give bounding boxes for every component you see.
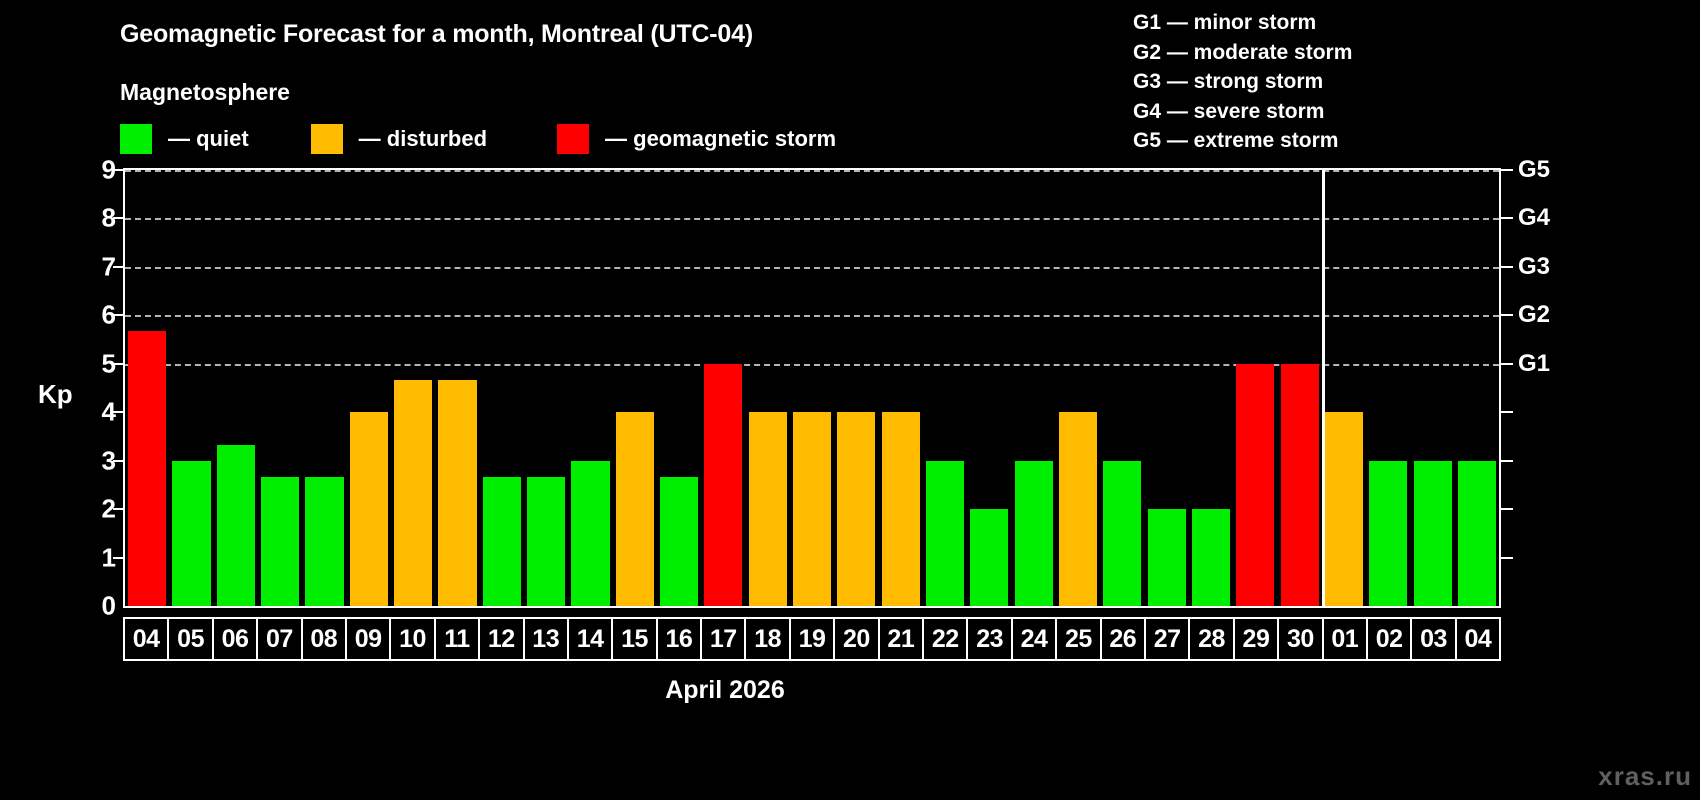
date-cell[interactable]: 01 <box>1324 619 1368 659</box>
g-axis-label-G3: G3 <box>1518 253 1550 281</box>
bar-02[interactable] <box>1369 461 1407 606</box>
bar-30[interactable] <box>1281 364 1319 606</box>
date-cell[interactable]: 14 <box>569 619 613 659</box>
date-cell[interactable]: 24 <box>1013 619 1057 659</box>
g-scale-legend-row: G2 — moderate storm <box>1133 38 1352 68</box>
bar-16[interactable] <box>660 477 698 606</box>
legend-swatch-0 <box>120 124 152 154</box>
y-axis-title: Kp <box>38 379 73 410</box>
g-axis-tick-mark <box>1501 557 1513 559</box>
date-cell[interactable]: 28 <box>1190 619 1234 659</box>
bar-04[interactable] <box>128 331 166 606</box>
bar-slot[interactable] <box>347 170 391 606</box>
date-cell[interactable]: 10 <box>391 619 435 659</box>
bar-27[interactable] <box>1148 509 1186 606</box>
bar-slot[interactable] <box>879 170 923 606</box>
bar-slot[interactable] <box>125 170 169 606</box>
bar-slot[interactable] <box>480 170 524 606</box>
date-cell[interactable]: 25 <box>1057 619 1101 659</box>
date-cell[interactable]: 20 <box>835 619 879 659</box>
bar-slot[interactable] <box>1411 170 1455 606</box>
date-cell[interactable]: 03 <box>1412 619 1456 659</box>
bar-slot[interactable] <box>1322 170 1366 606</box>
bar-13[interactable] <box>527 477 565 606</box>
date-cell[interactable]: 30 <box>1279 619 1323 659</box>
g-scale-legend-row: G4 — severe storm <box>1133 97 1352 127</box>
bar-09[interactable] <box>350 412 388 606</box>
date-cell[interactable]: 26 <box>1102 619 1146 659</box>
bar-slot[interactable] <box>258 170 302 606</box>
bar-12[interactable] <box>483 477 521 606</box>
bar-slot[interactable] <box>169 170 213 606</box>
bar-11[interactable] <box>438 380 476 606</box>
bar-01[interactable] <box>1325 412 1363 606</box>
date-axis: 0405060708091011121314151617181920212223… <box>123 617 1501 661</box>
date-cell[interactable]: 27 <box>1146 619 1190 659</box>
x-axis-title: April 2026 <box>0 676 1450 705</box>
g-axis-label-G5: G5 <box>1518 156 1550 184</box>
page-title: Geomagnetic Forecast for a month, Montre… <box>120 20 753 49</box>
y-axis-labels: 0123456789 <box>78 168 116 608</box>
bar-slot[interactable] <box>967 170 1011 606</box>
color-legend: — quiet— disturbed— geomagnetic storm <box>120 123 836 155</box>
legend-entry: — disturbed <box>311 124 487 154</box>
bar-slot[interactable] <box>1100 170 1144 606</box>
date-cell[interactable]: 04 <box>125 619 169 659</box>
bar-10[interactable] <box>394 380 432 606</box>
date-cell[interactable]: 04 <box>1457 619 1499 659</box>
date-cell[interactable]: 11 <box>436 619 480 659</box>
date-cell[interactable]: 15 <box>613 619 657 659</box>
bar-07[interactable] <box>261 477 299 606</box>
bar-slot[interactable] <box>1455 170 1499 606</box>
bar-slot[interactable] <box>1145 170 1189 606</box>
legend-label: — geomagnetic storm <box>605 126 836 152</box>
date-cell[interactable]: 05 <box>169 619 213 659</box>
date-cell[interactable]: 16 <box>658 619 702 659</box>
legend-swatch-2 <box>557 124 589 154</box>
date-cell[interactable]: 12 <box>480 619 524 659</box>
bar-slot[interactable] <box>1366 170 1410 606</box>
legend-label: — quiet <box>168 126 249 152</box>
bar-slot[interactable] <box>524 170 568 606</box>
bar-slot[interactable] <box>613 170 657 606</box>
g-axis-labels: G1G2G3G4G5 <box>1518 168 1578 608</box>
bar-slot[interactable] <box>1278 170 1322 606</box>
date-cell[interactable]: 17 <box>702 619 746 659</box>
bar-22[interactable] <box>926 461 964 606</box>
bar-04[interactable] <box>1458 461 1496 606</box>
bar-20[interactable] <box>837 412 875 606</box>
date-cell[interactable]: 06 <box>214 619 258 659</box>
bar-03[interactable] <box>1414 461 1452 606</box>
bar-23[interactable] <box>970 509 1008 606</box>
bar-18[interactable] <box>749 412 787 606</box>
bar-slot[interactable] <box>391 170 435 606</box>
bar-26[interactable] <box>1103 461 1141 606</box>
bar-slot[interactable] <box>1056 170 1100 606</box>
plot-area <box>123 168 1501 608</box>
date-cell[interactable]: 23 <box>968 619 1012 659</box>
bars-layer <box>125 170 1499 606</box>
date-cell[interactable]: 29 <box>1235 619 1279 659</box>
bar-slot[interactable] <box>435 170 479 606</box>
g-axis-tick-mark <box>1501 363 1513 365</box>
date-cell[interactable]: 21 <box>880 619 924 659</box>
bar-15[interactable] <box>616 412 654 606</box>
bar-slot[interactable] <box>1012 170 1056 606</box>
date-cell[interactable]: 13 <box>525 619 569 659</box>
month-divider-line <box>1322 168 1325 608</box>
date-cell[interactable]: 08 <box>303 619 347 659</box>
bar-06[interactable] <box>217 445 255 606</box>
g-scale-legend-row: G5 — extreme storm <box>1133 126 1352 156</box>
bar-21[interactable] <box>882 412 920 606</box>
g-scale-legend: G1 — minor stormG2 — moderate stormG3 — … <box>1133 8 1352 156</box>
watermark: xras.ru <box>1598 761 1692 792</box>
bar-19[interactable] <box>793 412 831 606</box>
g-axis-label-G4: G4 <box>1518 204 1550 232</box>
bar-slot[interactable] <box>1233 170 1277 606</box>
g-scale-legend-row: G1 — minor storm <box>1133 8 1352 38</box>
g-axis-tick-mark <box>1501 460 1513 462</box>
date-cell[interactable]: 19 <box>791 619 835 659</box>
bar-slot[interactable] <box>746 170 790 606</box>
g-axis-tick-mark <box>1501 411 1513 413</box>
g-axis-label-G2: G2 <box>1518 301 1550 329</box>
legend-swatch-1 <box>311 124 343 154</box>
g-axis-tick-mark <box>1501 169 1513 171</box>
bar-slot[interactable] <box>790 170 834 606</box>
bar-17[interactable] <box>704 364 742 606</box>
g-axis-tick-marks <box>1501 168 1514 608</box>
legend-entry: — quiet <box>120 124 249 154</box>
bar-24[interactable] <box>1015 461 1053 606</box>
g-axis-tick-mark <box>1501 217 1513 219</box>
g-axis-tick-mark <box>1501 314 1513 316</box>
g-axis-tick-mark <box>1501 508 1513 510</box>
bar-slot[interactable] <box>657 170 701 606</box>
date-cell[interactable]: 09 <box>347 619 391 659</box>
bar-slot[interactable] <box>302 170 346 606</box>
bar-slot[interactable] <box>701 170 745 606</box>
bar-14[interactable] <box>571 461 609 606</box>
date-cell[interactable]: 07 <box>258 619 302 659</box>
g-axis-tick-mark <box>1501 266 1513 268</box>
bar-slot[interactable] <box>214 170 258 606</box>
bar-29[interactable] <box>1236 364 1274 606</box>
bar-25[interactable] <box>1059 412 1097 606</box>
bar-28[interactable] <box>1192 509 1230 606</box>
bar-slot[interactable] <box>834 170 878 606</box>
legend-entry: — geomagnetic storm <box>557 124 836 154</box>
date-cell[interactable]: 02 <box>1368 619 1412 659</box>
bar-slot[interactable] <box>923 170 967 606</box>
bar-08[interactable] <box>305 477 343 606</box>
legend-label: — disturbed <box>359 126 487 152</box>
bar-slot[interactable] <box>1189 170 1233 606</box>
date-cell[interactable]: 22 <box>924 619 968 659</box>
date-cell[interactable]: 18 <box>746 619 790 659</box>
magnetosphere-section-label: Magnetosphere <box>120 79 290 106</box>
bar-05[interactable] <box>172 461 210 606</box>
g-scale-legend-row: G3 — strong storm <box>1133 67 1352 97</box>
bar-slot[interactable] <box>568 170 612 606</box>
g-axis-label-G1: G1 <box>1518 350 1550 378</box>
